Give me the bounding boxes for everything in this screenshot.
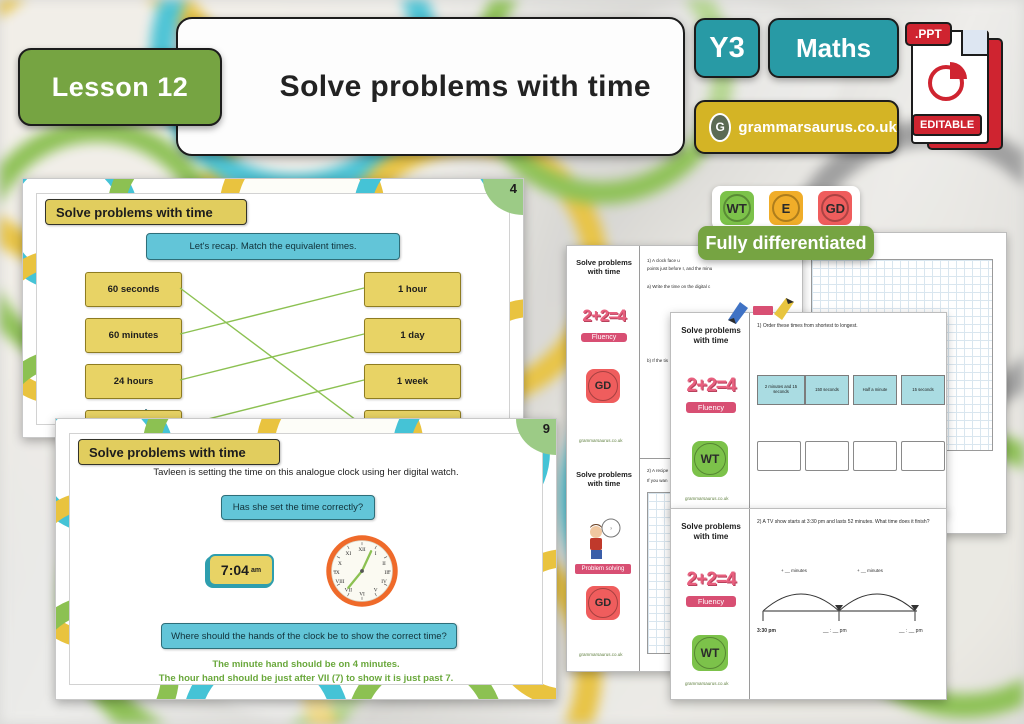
differentiation-stamps-box: WT E GD (712, 186, 860, 230)
stamp-code: WT (727, 201, 747, 216)
analogue-clock-icon: XIIIII IIIIVV VIVIIVIII IXXXI (324, 533, 400, 609)
stamp-e: E (769, 191, 803, 225)
worksheet-c-stamp-wt: WT (692, 635, 728, 671)
worksheet-a-bottom-q2: 2) A recipe (647, 468, 668, 473)
svg-text:I: I (375, 551, 377, 557)
stamp-code: E (782, 201, 791, 216)
website-label: grammarsaurus.co.uk (738, 119, 897, 136)
website-tag: G grammarsaurus.co.uk (694, 100, 899, 154)
stamp-wt: WT (720, 191, 754, 225)
worksheet-a-top-q1b: points just before I, and the minu (647, 266, 797, 271)
slide-9-question-2: Where should the hands of the clock be t… (161, 623, 457, 649)
file-extension-badge: .PPT (905, 22, 952, 46)
thinking-child-icon: ? (581, 518, 627, 560)
fluency-label: Fluency (581, 333, 628, 342)
svg-text:X: X (338, 561, 342, 567)
worksheet-c-footer: grammarsaurus.co.uk (685, 681, 729, 686)
digital-meridiem: am (251, 567, 261, 574)
pie-chart-icon (925, 58, 971, 104)
worksheet-a-bottom-label: Problem solving (575, 564, 631, 574)
fluency-equation: 2+2=4 (679, 569, 743, 591)
year-group-label: Y3 (709, 32, 744, 65)
worksheet-b-footer: grammarsaurus.co.uk (685, 496, 729, 501)
slide-9-question-1: Has she set the time correctly? (221, 495, 375, 520)
jump2-label: + __ minutes (857, 568, 883, 573)
svg-text:VI: VI (359, 591, 365, 597)
worksheet-b-fluency-icon: 2+2=4 Fluency (679, 375, 743, 415)
answer-slot[interactable] (805, 441, 849, 471)
answer-slot[interactable] (757, 441, 801, 471)
slide-4-content: Let's recap. Match the equivalent times.… (36, 193, 510, 425)
end-time-label: __ : __ pm (899, 628, 923, 634)
lesson-number-badge: Lesson 12 (18, 48, 222, 126)
worksheet-a-bottom-q2b: If you wan (647, 478, 668, 483)
stamp-gd: GD (818, 191, 852, 225)
slide-4-preview[interactable]: 4 Solve problems with time Let's recap. … (22, 178, 524, 438)
fluency-label: Fluency (686, 596, 736, 607)
svg-text:IV: IV (381, 579, 387, 585)
worksheet-a-bottom-stamp-gd: GD (586, 586, 620, 620)
subject-tag: Maths (768, 18, 899, 78)
worksheet-sheet-c: Solve problems with time 2+2=4 Fluency W… (670, 508, 947, 700)
powerpoint-file-icon: .PPT EDITABLE (905, 22, 1005, 150)
worksheet-a-bottom-title: Solve problems with time (569, 470, 639, 489)
fluency-equation: 2+2=4 (679, 375, 743, 397)
digital-watch-screen: 7:04 am (208, 554, 274, 586)
worksheet-a-top-fluency-icon: 2+2=4 Fluency (573, 306, 635, 344)
time-card[interactable]: Half a minute (853, 375, 897, 405)
worksheet-c-question: 2) A TV show starts at 3:30 pm and lasts… (757, 519, 930, 525)
page-title-bar: Solve problems with time (176, 17, 685, 156)
stamp-code: WT (701, 646, 720, 660)
slide-9-preview[interactable]: 9 Solve problems with time Tavleen is se… (55, 418, 557, 700)
lesson-label: Lesson 12 (52, 72, 189, 103)
slide-9-answer-line-1: The minute hand should be on 4 minutes. (69, 659, 543, 670)
worksheet-b-stamp-wt: WT (692, 441, 728, 477)
answer-slot[interactable] (901, 441, 945, 471)
stamp-code: GD (826, 201, 846, 216)
svg-text:XI: XI (346, 551, 352, 557)
stamp-code: GD (595, 597, 612, 609)
worksheet-c-fluency-icon: 2+2=4 Fluency (679, 569, 743, 609)
worksheet-a-top-sidebar (567, 246, 640, 458)
answer-slot[interactable] (853, 441, 897, 471)
start-time-label: 3:30 pm (757, 628, 776, 634)
fluency-label: Fluency (686, 402, 736, 413)
jump1-label: + __ minutes (781, 568, 807, 573)
worksheet-c-title: Solve problems with time (673, 522, 749, 542)
stamp-code: GD (595, 380, 612, 392)
svg-text:V: V (374, 588, 378, 594)
editable-badge: EDITABLE (912, 114, 982, 136)
pencils-icon (726, 296, 796, 324)
dinosaur-logo-icon: G (709, 113, 731, 142)
svg-text:VIII: VIII (335, 579, 344, 585)
worksheet-sheet-b: Solve problems with time 2+2=4 Fluency W… (670, 312, 947, 514)
slide-9-intro: Tavleen is setting the time on this anal… (69, 467, 543, 478)
worksheet-a-top-title: Solve problems with time (569, 258, 639, 277)
fluency-equation: 2+2=4 (573, 306, 635, 326)
number-line-diagram (757, 569, 937, 629)
time-card[interactable]: 15 seconds (901, 375, 945, 405)
svg-text:IX: IX (334, 570, 340, 576)
time-card[interactable]: 150 seconds (805, 375, 849, 405)
year-group-tag: Y3 (694, 18, 760, 78)
worksheet-b-title: Solve problems with time (673, 326, 749, 346)
subject-label: Maths (796, 33, 871, 64)
worksheet-a-top-stamp-gd: GD (586, 369, 620, 403)
page-title: Solve problems with time (280, 70, 683, 104)
svg-text:?: ? (610, 526, 613, 531)
svg-text:III: III (384, 570, 390, 576)
slide-9-answer-line-2: The hour hand should be just after VII (… (69, 673, 543, 684)
worksheet-a-top-q1c: a) Write the time on the digital c (647, 284, 797, 289)
worksheet-a-bottom-footer: grammarsaurus.co.uk (579, 652, 623, 657)
digital-time: 7:04 (221, 562, 249, 578)
time-card[interactable]: 2 minutes and 15 seconds (757, 375, 805, 405)
mid-time-label: __ : __ pm (823, 628, 847, 634)
slide-9-content: Tavleen is setting the time on this anal… (69, 433, 543, 685)
stamp-code: WT (701, 452, 720, 466)
svg-text:II: II (382, 561, 386, 567)
worksheet-a-top-footer: grammarsaurus.co.uk (579, 438, 623, 443)
fully-differentiated-label: Fully differentiated (698, 226, 874, 260)
match-lines (36, 193, 496, 425)
svg-text:XII: XII (358, 547, 366, 553)
